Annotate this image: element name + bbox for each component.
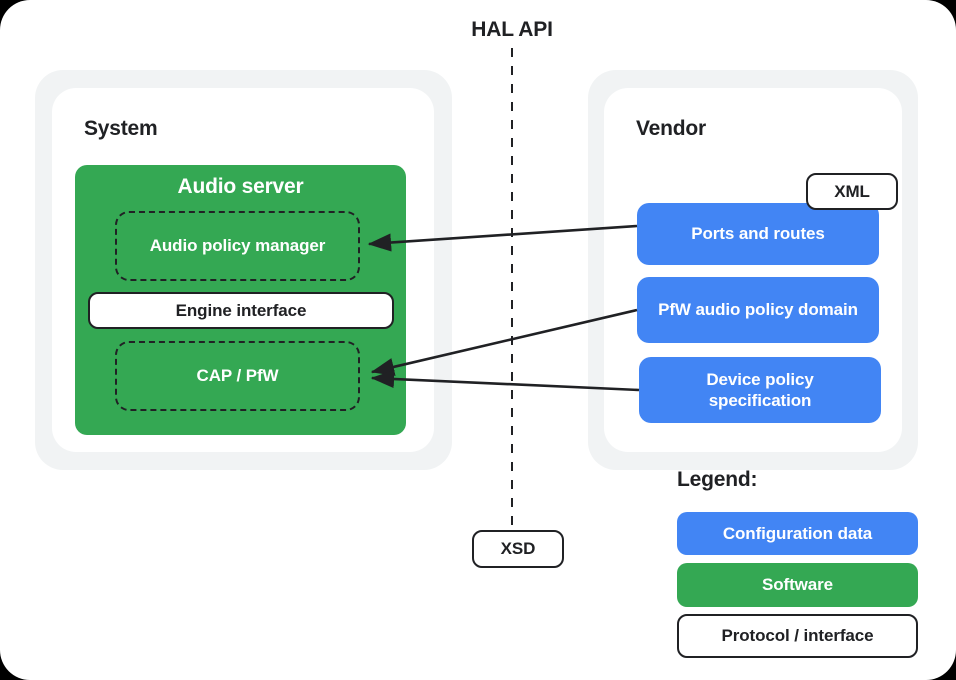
system-title: System (84, 117, 158, 141)
legend-item-software: Software (677, 563, 918, 607)
xml-badge[interactable]: XML (806, 173, 898, 210)
engine-interface-box[interactable]: Engine interface (88, 292, 394, 329)
vendor-block-ports-and-routes[interactable]: Ports and routes (637, 203, 879, 265)
xsd-badge[interactable]: XSD (472, 530, 564, 568)
legend-title: Legend: (677, 468, 757, 492)
vendor-block-pfw-audio-policy-domain[interactable]: PfW audio policy domain (637, 277, 879, 343)
diagram-canvas: HAL API System Audio server Audio policy… (0, 0, 956, 680)
cap-pfw-box[interactable]: CAP / PfW (115, 341, 360, 411)
vendor-title: Vendor (636, 117, 706, 141)
audio-server-title: Audio server (75, 175, 406, 199)
hal-api-title: HAL API (412, 18, 612, 42)
legend-item-protocol-interface: Protocol / interface (677, 614, 918, 658)
vendor-block-device-policy-specification[interactable]: Device policy specification (639, 357, 881, 423)
audio-policy-manager-box[interactable]: Audio policy manager (115, 211, 360, 281)
legend-item-configuration-data: Configuration data (677, 512, 918, 555)
